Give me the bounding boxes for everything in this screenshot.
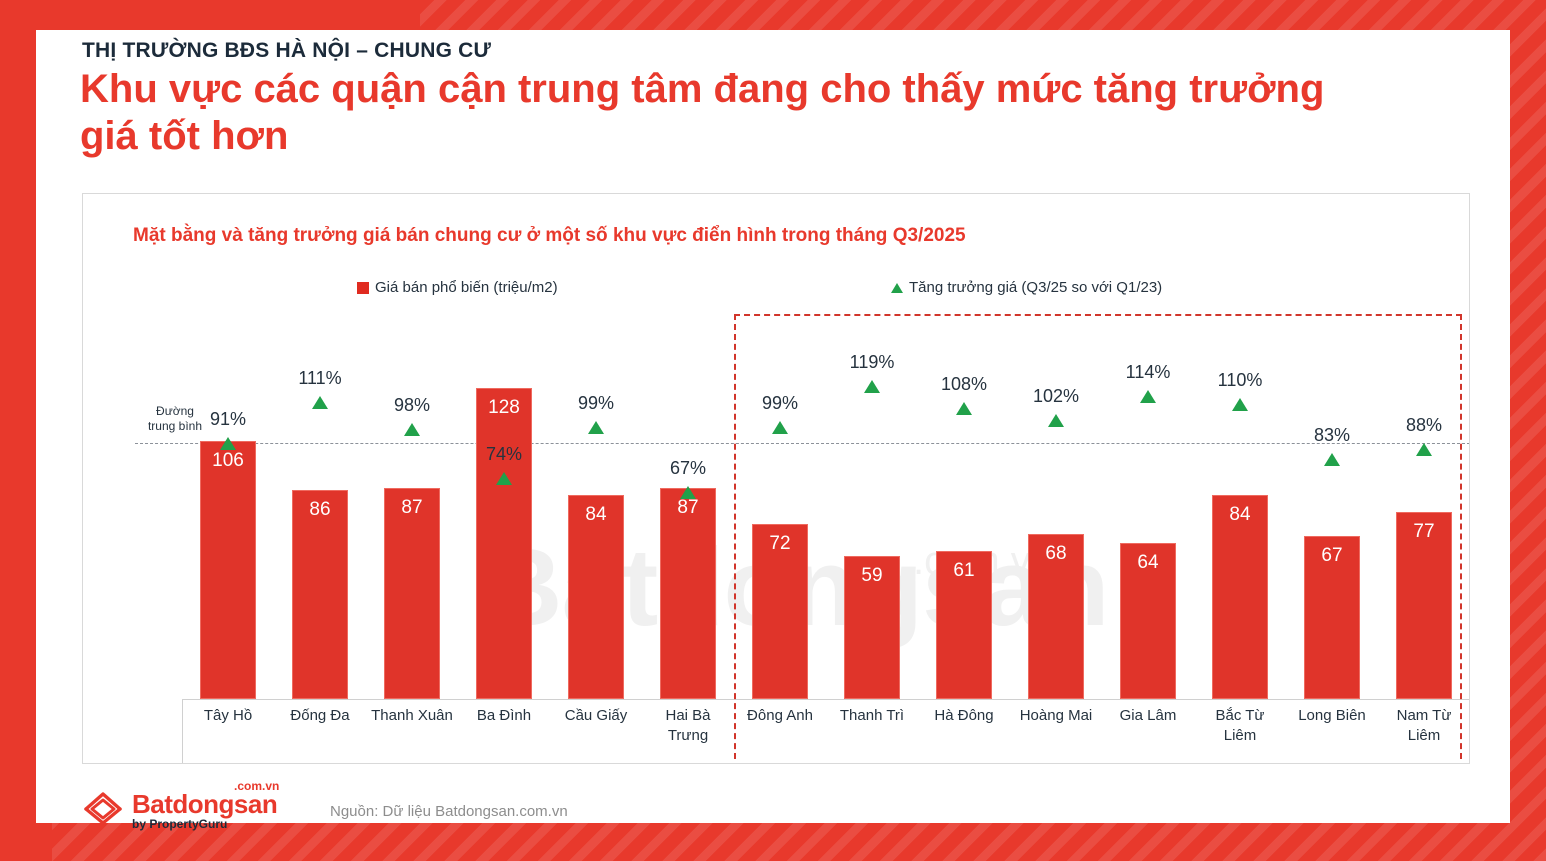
bar-value-label: 87 <box>677 497 698 698</box>
growth-value-label: 99% <box>578 393 614 414</box>
bar: 106 <box>200 441 256 699</box>
page-title: Khu vực các quận cận trung tâm đang cho … <box>80 66 1340 160</box>
bar: 84 <box>568 495 624 699</box>
growth-value-label: 99% <box>762 393 798 414</box>
growth-marker-icon <box>680 486 696 499</box>
house-logo-icon <box>82 789 124 827</box>
legend-triangle-icon <box>891 283 903 293</box>
category-label-line: Tây Hồ <box>176 706 280 726</box>
growth-value-label: 91% <box>210 409 246 430</box>
bar: 67 <box>1304 536 1360 699</box>
growth-value-label: 88% <box>1406 415 1442 436</box>
bar: 59 <box>844 556 900 699</box>
category-label-line: Cầu Giấy <box>544 706 648 726</box>
bar-value-label: 59 <box>861 565 882 698</box>
bar-value-label: 72 <box>769 533 790 698</box>
chart-column: 84110%Bắc TừLiêm <box>1188 194 1292 764</box>
chart-column: 8767%Hai BàTrưng <box>636 194 740 764</box>
growth-value-label: 111% <box>298 368 341 389</box>
chart-column: 6783%Long Biên <box>1280 194 1384 764</box>
growth-marker-icon <box>496 472 512 485</box>
legend-label-growth: Tăng trưởng giá (Q3/25 so với Q1/23) <box>909 279 1162 296</box>
chart-column: 7788%Nam TừLiêm <box>1372 194 1470 764</box>
category-label-line: Thanh Trì <box>820 706 924 726</box>
category-label: Hoàng Mai <box>1004 706 1108 726</box>
category-label-line: Liêm <box>1188 726 1292 746</box>
growth-marker-icon <box>772 421 788 434</box>
category-label-line: Đống Đa <box>268 706 372 726</box>
batdongsan-logo: Batdongsan .com.vn by PropertyGuru <box>82 785 278 831</box>
growth-value-label: 67% <box>670 458 706 479</box>
category-label-line: Đông Anh <box>728 706 832 726</box>
category-label-line: Long Biên <box>1280 706 1384 726</box>
bar-value-label: 64 <box>1137 552 1158 698</box>
chart-series: 10691%Tây Hồ86111%Đống Đa8798%Thanh Xuân… <box>83 194 1470 764</box>
growth-value-label: 102% <box>1033 386 1079 407</box>
growth-marker-icon <box>956 402 972 415</box>
bar-value-label: 67 <box>1321 545 1342 698</box>
growth-marker-icon <box>404 423 420 436</box>
bar: 87 <box>660 488 716 699</box>
growth-marker-icon <box>1416 443 1432 456</box>
category-label: Thanh Xuân <box>360 706 464 726</box>
growth-value-label: 110% <box>1218 370 1263 391</box>
category-label-line: Bắc Từ <box>1188 706 1292 726</box>
category-label: Hà Đông <box>912 706 1016 726</box>
legend-item-price: Giá bán phổ biến (triệu/m2) <box>357 279 558 296</box>
category-label: Ba Đình <box>452 706 556 726</box>
category-label-line: Hoàng Mai <box>1004 706 1108 726</box>
growth-value-label: 83% <box>1314 425 1350 446</box>
category-label-line: Trưng <box>636 726 740 746</box>
logo-wordmark: Batdongsan <box>132 789 277 820</box>
bar-value-label: 128 <box>488 397 520 698</box>
growth-value-label: 119% <box>850 352 895 373</box>
legend-label-price: Giá bán phổ biến (triệu/m2) <box>375 279 558 296</box>
infographic-page: THỊ TRƯỜNG BĐS HÀ NỘI – CHUNG CƯ Khu vực… <box>0 0 1546 861</box>
bar: 77 <box>1396 512 1452 699</box>
chart-column: 8499%Cầu Giấy <box>544 194 648 764</box>
bar-value-label: 84 <box>585 504 606 698</box>
chart-card: Batdongsan .com.vn Mặt bằng và tăng trưở… <box>82 193 1470 764</box>
footer: Batdongsan .com.vn by PropertyGuru Nguồn… <box>82 785 568 831</box>
chart-column: 7299%Đông Anh <box>728 194 832 764</box>
category-label-line: Ba Đình <box>452 706 556 726</box>
kicker-text: THỊ TRƯỜNG BĐS HÀ NỘI – CHUNG CƯ <box>82 39 491 63</box>
category-label-line: Hai Bà <box>636 706 740 726</box>
category-label-line: Liêm <box>1372 726 1470 746</box>
category-label: Long Biên <box>1280 706 1384 726</box>
category-label: Tây Hồ <box>176 706 280 726</box>
category-label-line: Hà Đông <box>912 706 1016 726</box>
bar: 61 <box>936 551 992 699</box>
category-label: Thanh Trì <box>820 706 924 726</box>
category-label-line: Gia Lâm <box>1096 706 1200 726</box>
bar: 84 <box>1212 495 1268 699</box>
growth-marker-icon <box>1324 453 1340 466</box>
bar-value-label: 84 <box>1229 504 1250 698</box>
bar: 86 <box>292 490 348 699</box>
average-line-label-line1: Đường <box>135 404 215 419</box>
growth-value-label: 74% <box>486 444 522 465</box>
category-label: Nam TừLiêm <box>1372 706 1470 747</box>
growth-value-label: 108% <box>941 374 987 395</box>
content-sheet: THỊ TRƯỜNG BĐS HÀ NỘI – CHUNG CƯ Khu vực… <box>36 30 1510 823</box>
bar: 68 <box>1028 534 1084 699</box>
growth-value-label: 114% <box>1126 362 1171 383</box>
category-label: Đống Đa <box>268 706 372 726</box>
bar: 64 <box>1120 543 1176 699</box>
category-label: Bắc TừLiêm <box>1188 706 1292 747</box>
source-note: Nguồn: Dữ liệu Batdongsan.com.vn <box>330 803 568 820</box>
average-line-label: Đường trung bình <box>135 404 215 434</box>
bar-value-label: 87 <box>401 497 422 698</box>
logo-subtitle: by PropertyGuru <box>132 817 227 831</box>
category-label-line: Thanh Xuân <box>360 706 464 726</box>
bar: 72 <box>752 524 808 699</box>
average-line-label-line2: trung bình <box>135 419 215 434</box>
bar-value-label: 68 <box>1045 543 1066 698</box>
category-label-line: Nam Từ <box>1372 706 1470 726</box>
chart-title: Mặt bằng và tăng trưởng giá bán chung cư… <box>133 225 966 247</box>
growth-marker-icon <box>1232 398 1248 411</box>
legend-item-growth: Tăng trưởng giá (Q3/25 so với Q1/23) <box>891 279 1162 296</box>
legend-square-icon <box>357 282 369 294</box>
growth-value-label: 98% <box>394 395 430 416</box>
category-label: Gia Lâm <box>1096 706 1200 726</box>
bar-value-label: 106 <box>212 450 244 698</box>
growth-marker-icon <box>1048 414 1064 427</box>
growth-marker-icon <box>220 437 236 450</box>
growth-marker-icon <box>588 421 604 434</box>
bar-value-label: 77 <box>1413 521 1434 698</box>
growth-marker-icon <box>1140 390 1156 403</box>
bar-value-label: 61 <box>953 560 974 698</box>
category-label: Đông Anh <box>728 706 832 726</box>
frame-top-band <box>0 0 420 30</box>
bar-value-label: 86 <box>309 499 330 698</box>
logo-tld: .com.vn <box>234 779 279 793</box>
growth-marker-icon <box>312 396 328 409</box>
category-label: Cầu Giấy <box>544 706 648 726</box>
bar: 128 <box>476 388 532 699</box>
growth-marker-icon <box>864 380 880 393</box>
chart-column: 10691%Tây Hồ <box>176 194 280 764</box>
bar: 87 <box>384 488 440 699</box>
category-label: Hai BàTrưng <box>636 706 740 747</box>
